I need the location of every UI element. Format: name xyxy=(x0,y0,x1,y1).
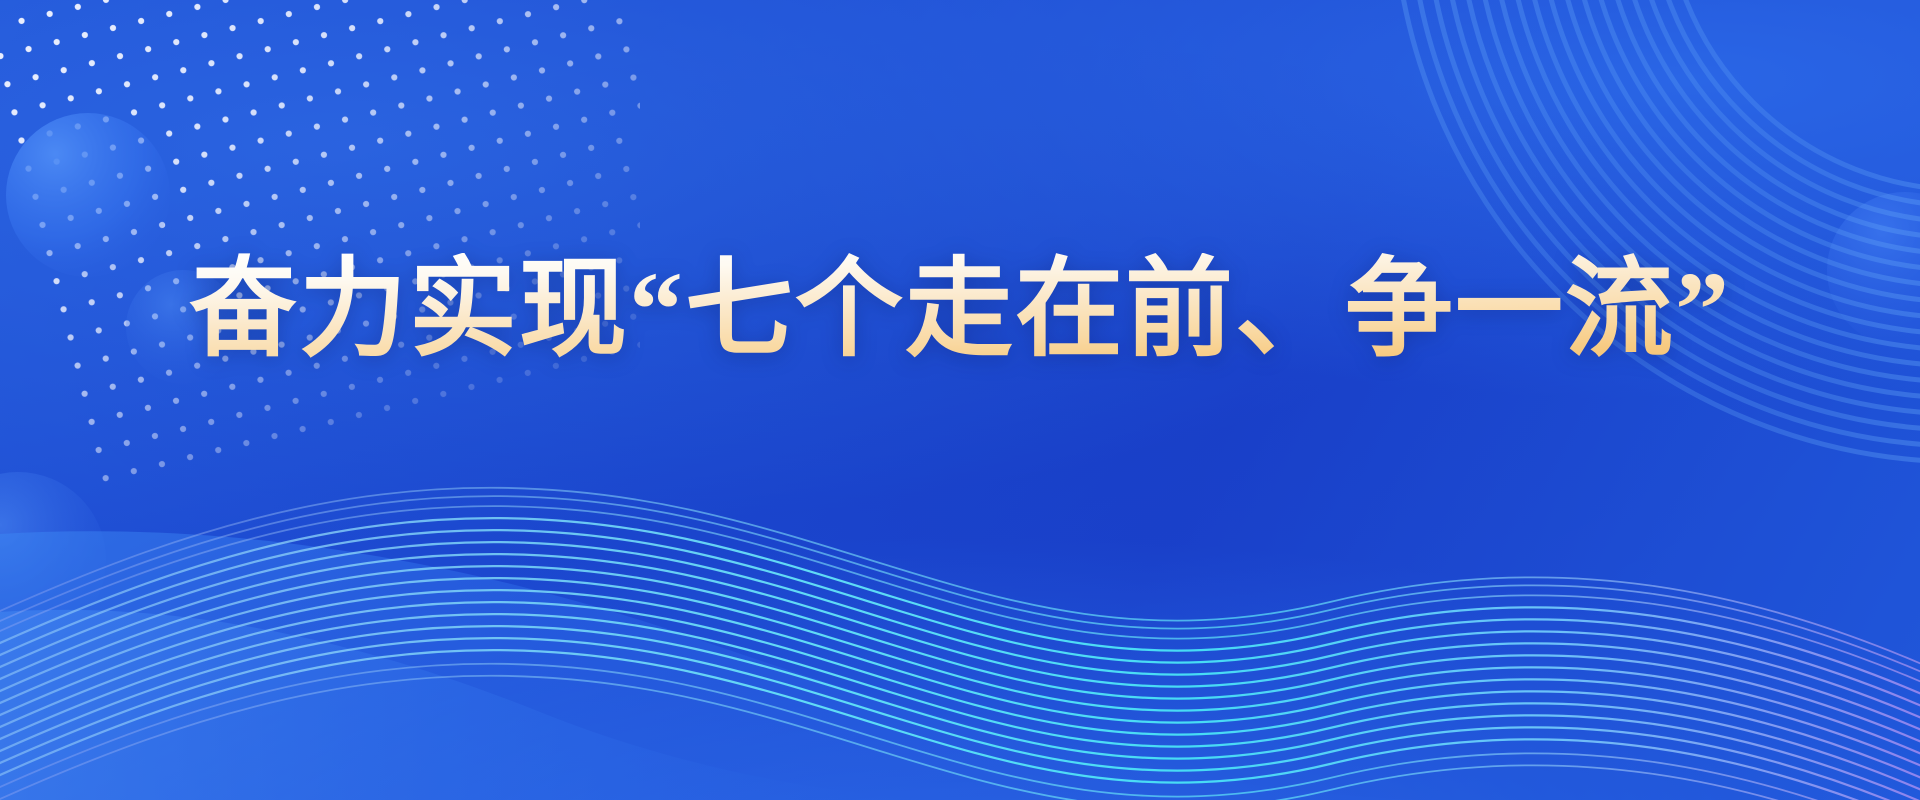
banner-title: 奋力实现“七个走在前、争一流” xyxy=(181,253,1739,370)
banner-root: 奋力实现“七个走在前、争一流” xyxy=(0,0,1920,800)
banner-title-container: 奋力实现“七个走在前、争一流” xyxy=(0,246,1920,376)
background-vignette xyxy=(0,0,1920,800)
